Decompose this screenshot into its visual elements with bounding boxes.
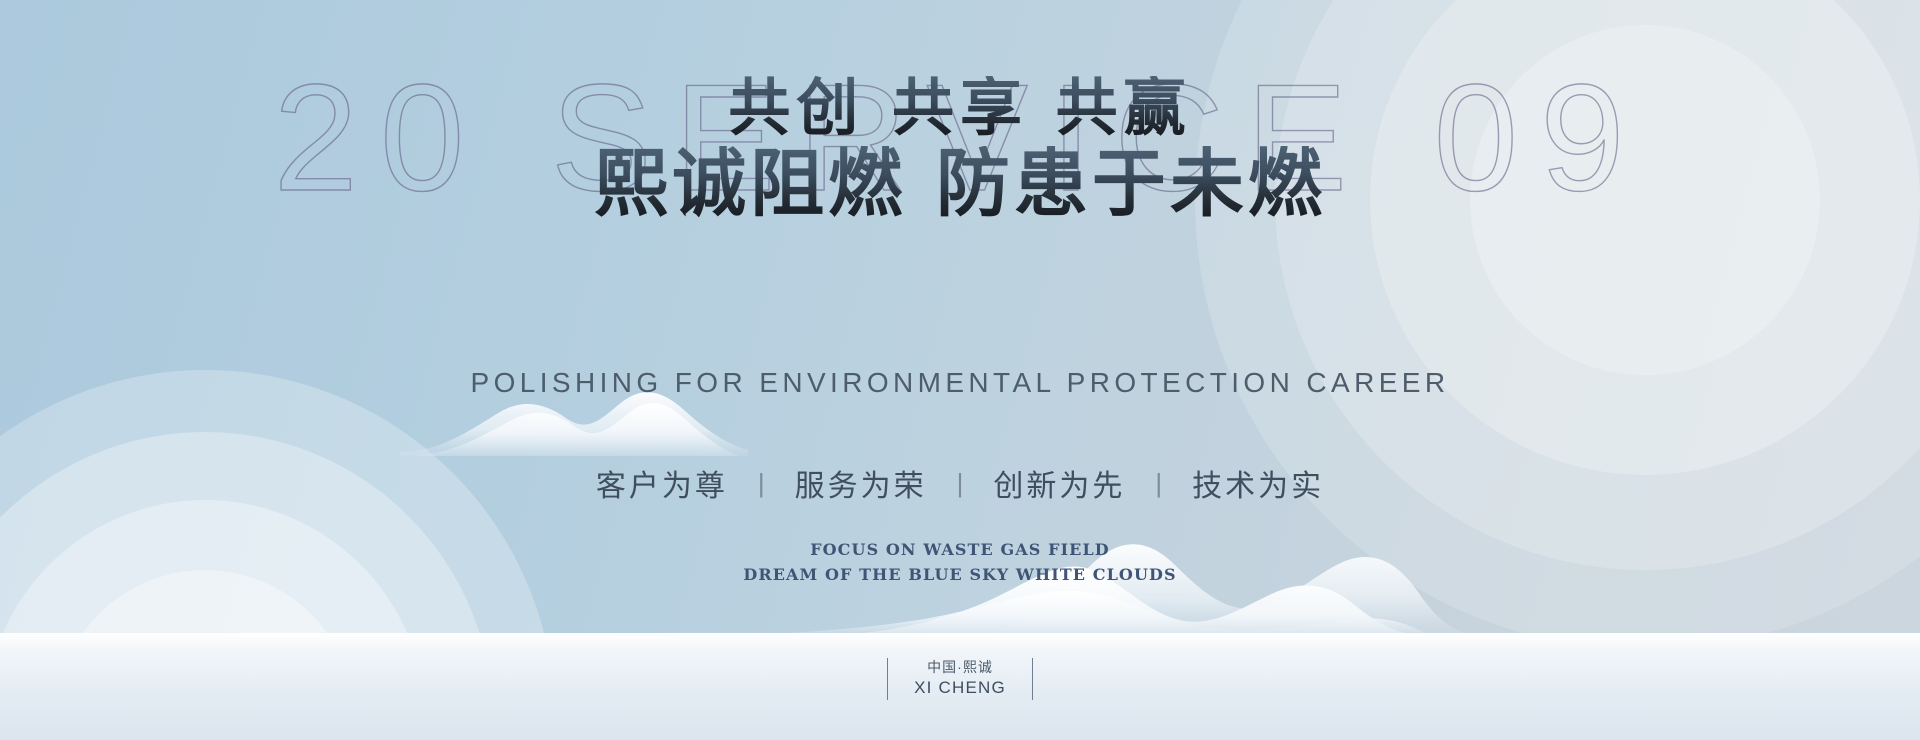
value-item-3: 创新为先	[963, 461, 1155, 505]
sub-slogan-line-2: DREAM OF THE BLUE SKY WHITE CLOUDS	[0, 565, 1920, 584]
brand-name-en: XI CHENG	[914, 677, 1006, 700]
hero-banner: 20 SERVICE 09	[0, 0, 1920, 740]
cloud-left-front	[412, 403, 740, 456]
cloud-right-front	[700, 591, 1430, 636]
sub-slogan-block: FOCUS ON WASTE GAS FIELD DREAM OF THE BL…	[0, 540, 1920, 584]
value-separator: |	[1155, 468, 1162, 499]
horizon-line	[0, 633, 1920, 634]
value-item-1: 客户为尊	[566, 461, 758, 505]
english-tagline: POLISHING FOR ENVIRONMENTAL PROTECTION C…	[0, 367, 1920, 399]
brand-divider-right	[1032, 658, 1033, 700]
value-item-2: 服务为荣	[765, 461, 957, 505]
value-separator: |	[957, 468, 964, 499]
sub-slogan-line-1: FOCUS ON WASTE GAS FIELD	[0, 540, 1920, 559]
brand-text-group: 中国·熙诚 XI CHENG	[914, 658, 1006, 700]
brand-name-cn: 中国·熙诚	[914, 658, 1006, 677]
headline-line-2: 熙诚阻燃 防患于未燃	[0, 146, 1920, 223]
cloud-left-back	[400, 392, 748, 456]
value-separator: |	[758, 468, 765, 499]
headline-block: 共创 共享 共赢 熙诚阻燃 防患于未燃	[0, 76, 1920, 223]
core-values-row: 客户为尊 | 服务为荣 | 创新为先 | 技术为实	[0, 461, 1920, 505]
brand-mark: 中国·熙诚 XI CHENG	[0, 658, 1920, 700]
brand-divider-left	[887, 658, 888, 700]
value-item-4: 技术为实	[1162, 461, 1354, 505]
headline-line-1: 共创 共享 共赢	[0, 76, 1920, 140]
